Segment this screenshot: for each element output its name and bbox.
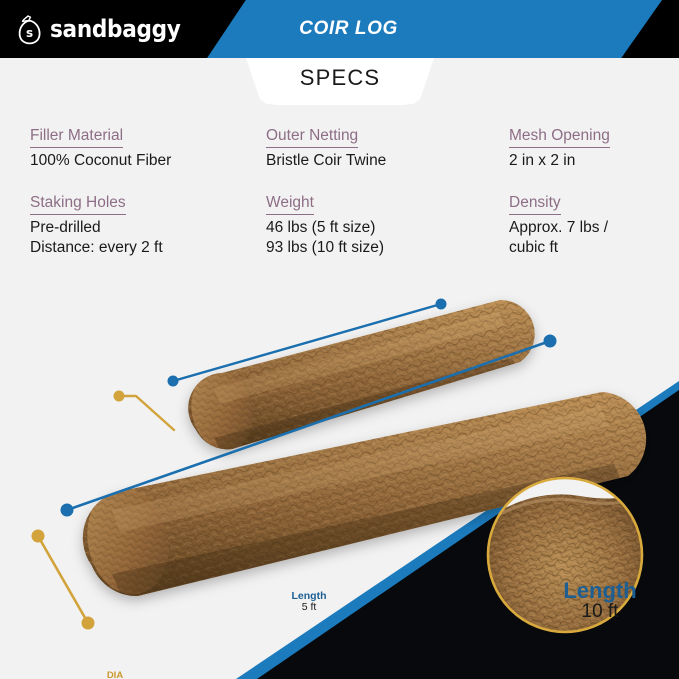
spec-label: Staking Holes <box>30 193 126 215</box>
spec-value: 2 in x 2 in <box>509 151 679 171</box>
callout-label-length-10ft: Length 10 ft <box>552 579 648 623</box>
callout-value: 10 ft <box>552 602 648 623</box>
page-title: COIR LOG <box>0 0 679 58</box>
callout-label-dia-5ft: DIA 16 in <box>92 671 138 679</box>
product-illustration: Length 5 ft DIA 16 in Length 10 ft DIA 1… <box>0 278 679 679</box>
spec-value: 93 lbs (10 ft size) <box>266 238 497 258</box>
spec-grid: Filler Material 100% Coconut Fiber Outer… <box>0 126 679 280</box>
callout-title: Length <box>552 579 648 602</box>
spec-value: Bristle Coir Twine <box>266 151 497 171</box>
spec-value: Distance: every 2 ft <box>30 238 257 258</box>
specs-tab[interactable]: SPECS <box>240 58 440 105</box>
spec-label: Density <box>509 193 561 215</box>
spec-item-outer-netting: Outer Netting Bristle Coir Twine <box>257 126 497 193</box>
spec-label: Outer Netting <box>266 126 358 148</box>
spec-value: Pre-drilled <box>30 218 257 238</box>
callout-title: DIA <box>92 671 138 679</box>
spec-value: 46 lbs (5 ft size) <box>266 218 497 238</box>
spec-label: Weight <box>266 193 314 215</box>
spec-value: 100% Coconut Fiber <box>30 151 257 171</box>
spec-item-staking-holes: Staking Holes Pre-drilled Distance: ever… <box>0 193 257 280</box>
callout-label-length-5ft: Length 5 ft <box>278 591 340 614</box>
spec-value: cubic ft <box>509 238 679 258</box>
spec-label: Mesh Opening <box>509 126 610 148</box>
spec-item-weight: Weight 46 lbs (5 ft size) 93 lbs (10 ft … <box>257 193 497 280</box>
spec-item-density: Density Approx. 7 lbs / cubic ft <box>497 193 679 280</box>
spec-item-mesh-opening: Mesh Opening 2 in x 2 in <box>497 126 679 193</box>
spec-item-filler-material: Filler Material 100% Coconut Fiber <box>0 126 257 193</box>
spec-label: Filler Material <box>30 126 123 148</box>
specs-tab-label: SPECS <box>300 65 381 91</box>
header-bar: s sandbaggy COIR LOG <box>0 0 679 58</box>
callout-value: 5 ft <box>278 602 340 614</box>
product-spec-infographic: s sandbaggy COIR LOG SPECS Filler Materi… <box>0 0 679 679</box>
spec-value: Approx. 7 lbs / <box>509 218 679 238</box>
